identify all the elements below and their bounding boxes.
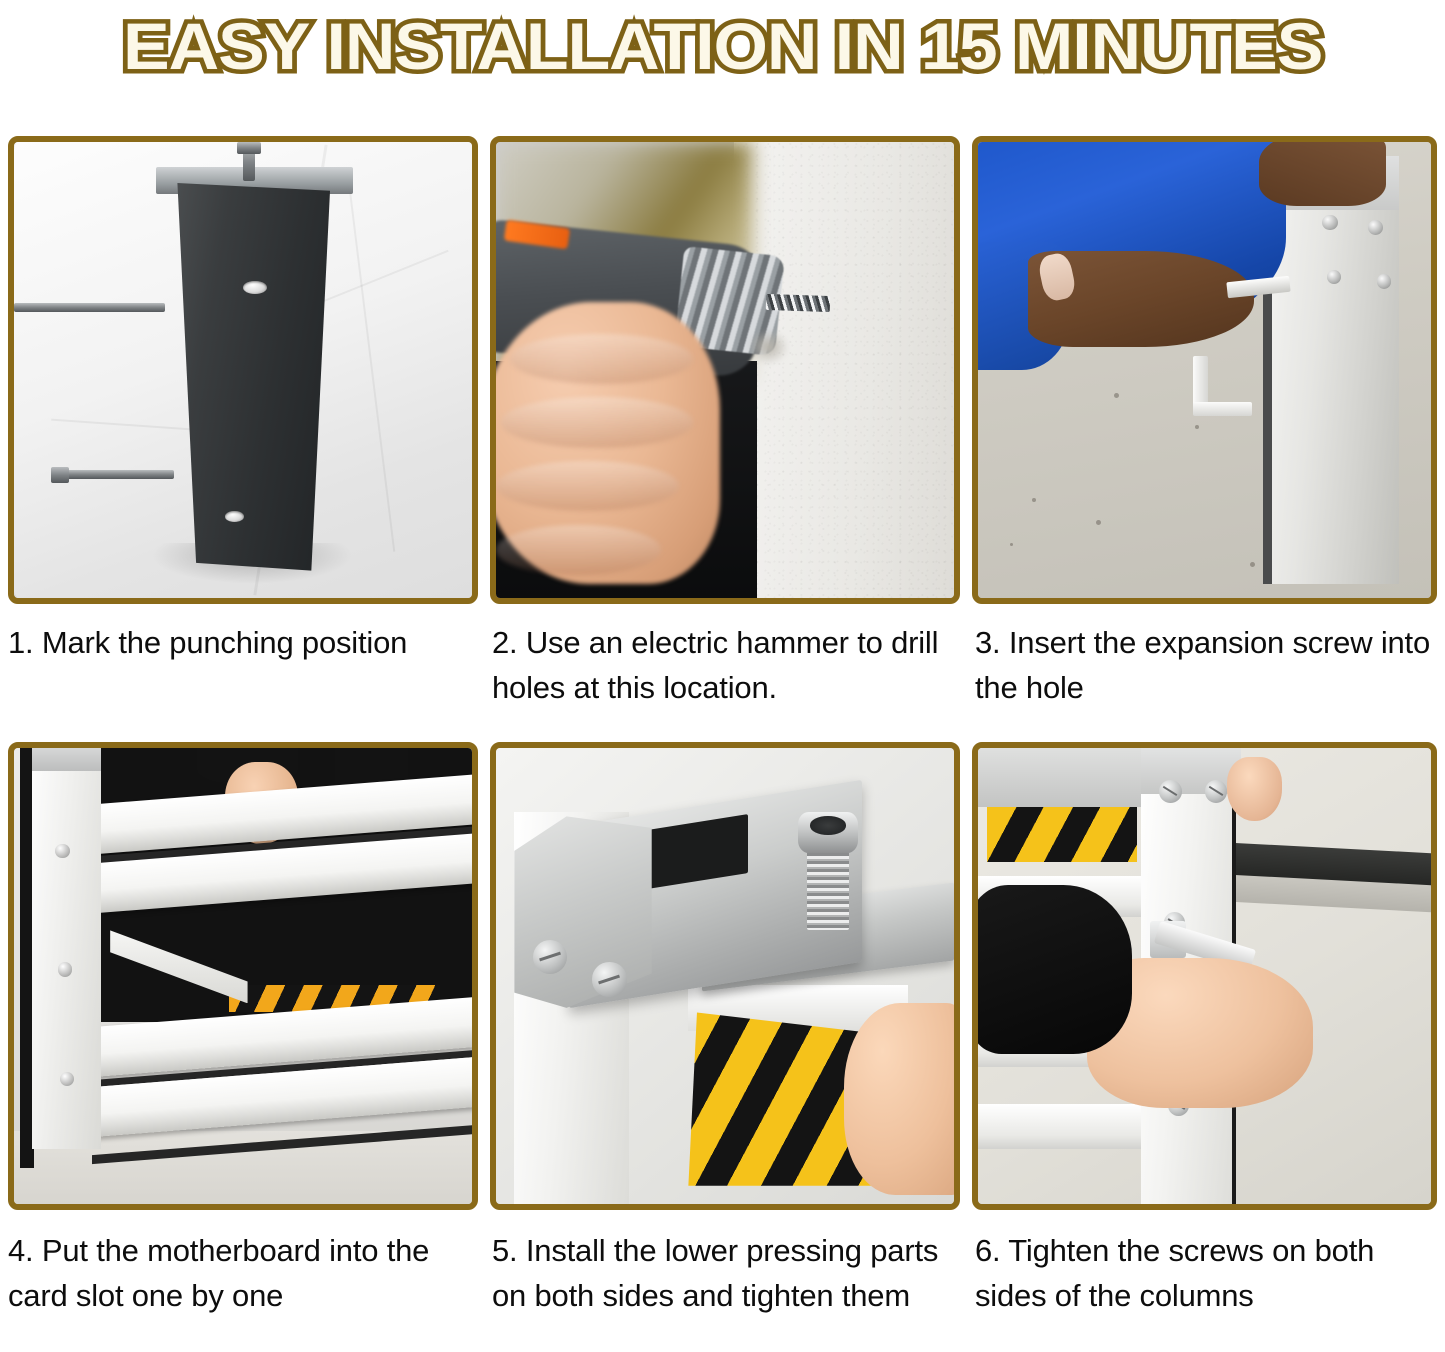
- step-1-caption: 1. Mark the punching position: [8, 620, 468, 665]
- photo-mark-punching-position: [8, 136, 478, 604]
- step-4-caption: 4. Put the motherboard into the card slo…: [8, 1228, 470, 1318]
- step-4-image: [14, 748, 472, 1204]
- step-1-image: [14, 142, 472, 598]
- step-5-caption: 5. Install the lower pressing parts on b…: [492, 1228, 944, 1318]
- photo-tighten-column-screws: [972, 742, 1437, 1210]
- step-5-image: [496, 748, 954, 1204]
- steps-grid: 1. Mark the punching position 2. Use an …: [0, 0, 1445, 1352]
- photo-install-pressing-parts: [490, 742, 960, 1210]
- step-6-caption: 6. Tighten the screws on both sides of t…: [975, 1228, 1437, 1318]
- installation-guide-page: EASY INSTALLATION IN 15 MINUTES: [0, 0, 1445, 1352]
- photo-drill-holes: [490, 136, 960, 604]
- photo-insert-expansion-screw: [972, 136, 1437, 604]
- step-2-image: [496, 142, 954, 598]
- step-3-caption: 3. Insert the expansion screw into the h…: [975, 620, 1437, 710]
- photo-insert-boards-into-slot: [8, 742, 478, 1210]
- step-2-caption: 2. Use an electric hammer to drill holes…: [492, 620, 944, 710]
- step-3-image: [978, 142, 1431, 598]
- step-6-image: [978, 748, 1431, 1204]
